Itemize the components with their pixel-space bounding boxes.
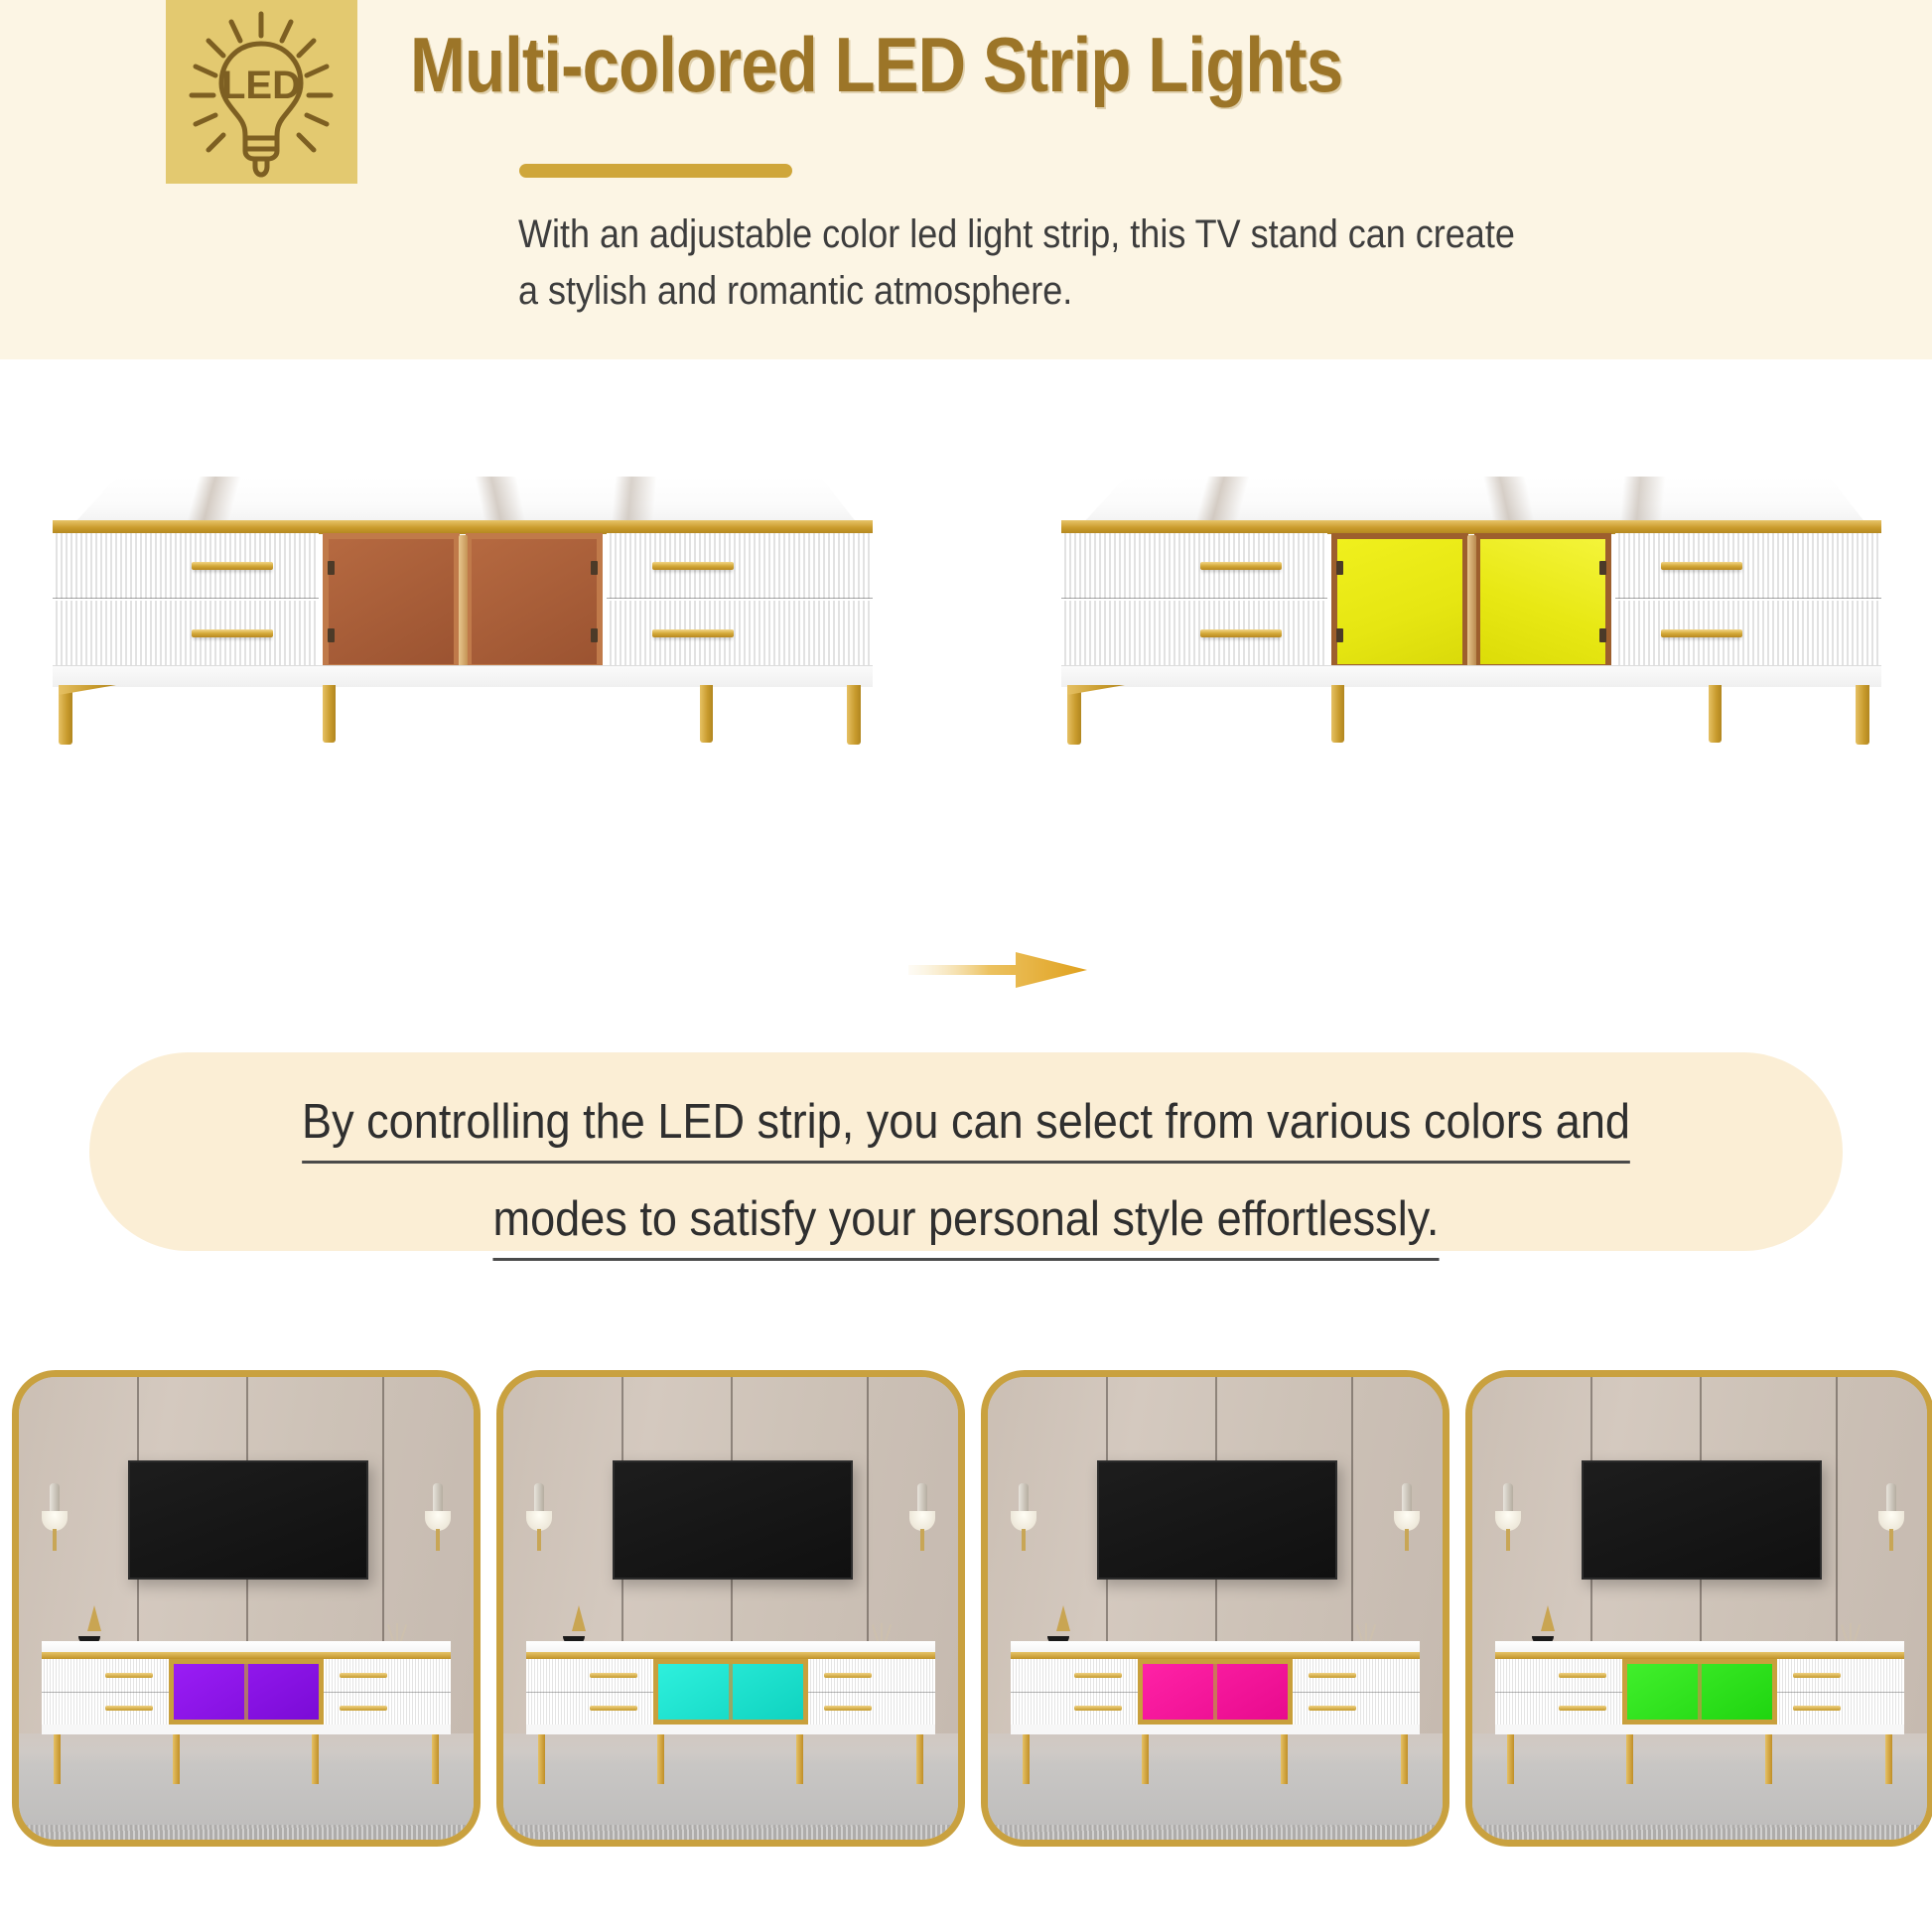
right-arrow-icon (908, 948, 1087, 994)
marble-top (1055, 477, 1887, 524)
decor-cone (1056, 1605, 1070, 1631)
drawer-handle[interactable] (1661, 562, 1742, 570)
title-divider (519, 164, 792, 178)
floor (1472, 1733, 1927, 1840)
led-cabinet (1622, 1659, 1778, 1725)
cabinet-door-left[interactable] (323, 533, 460, 670)
wall-sconce (42, 1483, 68, 1559)
drawer[interactable] (607, 601, 873, 666)
mini-tv-stand (1495, 1641, 1904, 1743)
decor-cone (87, 1605, 101, 1631)
rug (1472, 1825, 1927, 1840)
callout-banner: By controlling the LED strip, you can se… (89, 1052, 1843, 1251)
cabinet-door-left[interactable] (1331, 533, 1468, 670)
room-scene-green[interactable] (1465, 1370, 1932, 1847)
led-cabinet (169, 1659, 325, 1725)
stand-leg (847, 685, 861, 745)
stand-leg (323, 685, 336, 743)
drawer[interactable] (53, 533, 319, 599)
door-center-post (1467, 535, 1476, 668)
led-bulb-icon: LED (166, 0, 357, 184)
wall-sconce (1394, 1483, 1420, 1559)
banner-line-2-text: modes to satisfy your personal style eff… (493, 1192, 1440, 1261)
drawer-handle[interactable] (192, 629, 273, 637)
hinge-icon (328, 561, 335, 575)
rug (503, 1825, 958, 1840)
drawer-handle[interactable] (652, 629, 734, 637)
hinge-icon (1599, 561, 1606, 575)
stand-leg (700, 685, 713, 743)
drawer-column-left (53, 533, 319, 667)
drawer-handle[interactable] (192, 562, 273, 570)
gold-trim (53, 520, 873, 534)
gold-trim (1061, 520, 1881, 534)
cabinet-door-right[interactable] (1474, 533, 1611, 670)
drawer-column-right (1615, 533, 1881, 667)
wall-sconce (526, 1483, 552, 1559)
wall-sconce (1878, 1483, 1904, 1559)
stand-leg (1331, 685, 1344, 743)
drawer-handle[interactable] (1661, 629, 1742, 637)
stand-body (1061, 533, 1881, 667)
tv-stand-led-on (1034, 477, 1907, 745)
drawer-handle[interactable] (1200, 629, 1282, 637)
stand-body (53, 533, 873, 667)
room-scene-magenta[interactable] (981, 1370, 1449, 1847)
floor (503, 1733, 958, 1840)
stand-leg (1709, 685, 1722, 743)
drawer[interactable] (1615, 533, 1881, 599)
led-badge-text: LED (221, 64, 301, 107)
mini-tv-stand (526, 1641, 935, 1743)
room-scene-gallery (0, 1370, 1932, 1886)
page-title: Multi-colored LED Strip Lights (410, 22, 1342, 107)
tv-screen (128, 1460, 368, 1581)
stand-leg (1856, 685, 1869, 745)
header-band: LED Multi-colored LED Strip Lights With … (0, 0, 1932, 359)
rug (19, 1825, 474, 1840)
decor-cone (1541, 1605, 1555, 1631)
mini-tv-stand (42, 1641, 451, 1743)
hinge-icon (328, 628, 335, 642)
tv-screen (613, 1460, 853, 1581)
room-scene-cyan[interactable] (496, 1370, 965, 1847)
drawer-handle[interactable] (652, 562, 734, 570)
drawer[interactable] (1615, 601, 1881, 666)
tv-screen (1582, 1460, 1822, 1581)
hinge-icon (591, 628, 598, 642)
wall-sconce (1011, 1483, 1036, 1559)
product-comparison-row (0, 397, 1932, 854)
decor-cone (572, 1605, 586, 1631)
drawer[interactable] (1061, 601, 1327, 666)
cabinet-door-right[interactable] (466, 533, 603, 670)
banner-line-1: By controlling the LED strip, you can se… (160, 1094, 1773, 1150)
hinge-icon (1599, 628, 1606, 642)
wall-sconce (909, 1483, 935, 1559)
wall-sconce (1495, 1483, 1521, 1559)
header-subtitle-line2: a stylish and romantic atmosphere. (518, 263, 1635, 320)
drawer[interactable] (607, 533, 873, 599)
floor (988, 1733, 1443, 1840)
drawer-column-right (607, 533, 873, 667)
led-badge: LED (166, 0, 357, 184)
hinge-icon (591, 561, 598, 575)
drawer[interactable] (53, 601, 319, 666)
tv-screen (1097, 1460, 1337, 1581)
glass-cabinet (323, 533, 603, 670)
header-subtitle: With an adjustable color led light strip… (518, 207, 1635, 320)
tv-stand-led-off (25, 477, 898, 745)
wall-sconce (425, 1483, 451, 1559)
floor (19, 1733, 474, 1840)
stand-skirt (1061, 665, 1881, 687)
glass-cabinet (1331, 533, 1611, 670)
rug (988, 1825, 1443, 1840)
header-subtitle-line1: With an adjustable color led light strip… (518, 207, 1635, 263)
mini-tv-stand (1011, 1641, 1420, 1743)
drawer[interactable] (1061, 533, 1327, 599)
hinge-icon (1336, 628, 1343, 642)
room-scene-purple[interactable] (12, 1370, 481, 1847)
door-center-post (459, 535, 468, 668)
stand-skirt (53, 665, 873, 687)
banner-line-1-text: By controlling the LED strip, you can se… (302, 1095, 1630, 1164)
hinge-icon (1336, 561, 1343, 575)
led-cabinet (1138, 1659, 1294, 1725)
banner-line-2: modes to satisfy your personal style eff… (160, 1191, 1773, 1247)
led-cabinet (653, 1659, 809, 1725)
drawer-column-left (1061, 533, 1327, 667)
marble-top (47, 477, 879, 524)
drawer-handle[interactable] (1200, 562, 1282, 570)
